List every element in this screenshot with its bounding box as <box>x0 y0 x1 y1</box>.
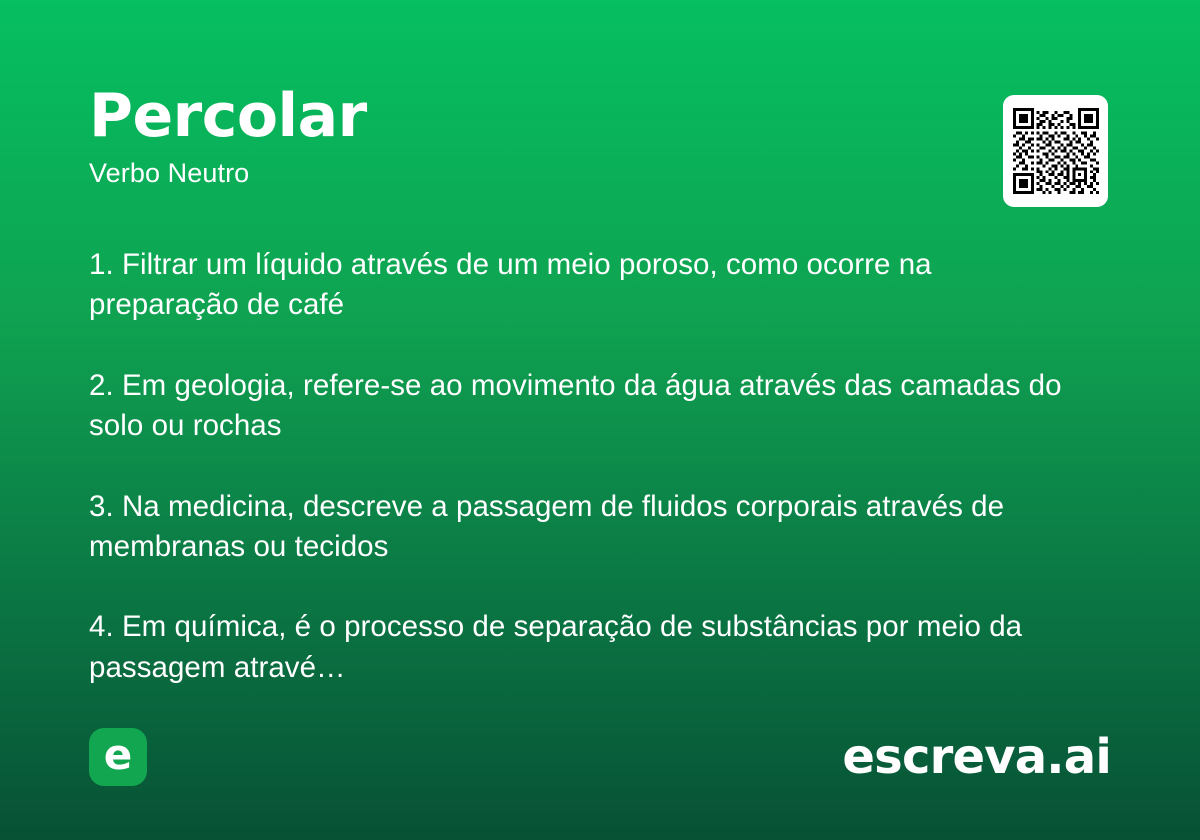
definition-list: 1. Filtrar um líquido através de um meio… <box>89 245 1089 688</box>
list-item: 1. Filtrar um líquido através de um meio… <box>89 245 1089 326</box>
qr-code-icon <box>1013 108 1099 194</box>
list-item: 3. Na medicina, descreve a passagem de f… <box>89 487 1089 568</box>
list-item: 4. Em química, é o processo de separação… <box>89 607 1089 688</box>
brand-wordmark: escreva.ai <box>842 733 1111 781</box>
word-definition-card: Percolar Verbo Neutro <box>0 0 1200 840</box>
logo-letter: e <box>104 734 133 776</box>
page-title: Percolar <box>89 86 1111 146</box>
card-footer: e escreva.ai <box>89 728 1111 786</box>
escreva-logo-icon: e <box>89 728 147 786</box>
word-class-label: Verbo Neutro <box>89 159 1111 189</box>
list-item: 2. Em geologia, refere-se ao movimento d… <box>89 366 1089 447</box>
card-header: Percolar Verbo Neutro <box>89 86 1111 189</box>
qr-code-panel[interactable] <box>1003 95 1108 207</box>
